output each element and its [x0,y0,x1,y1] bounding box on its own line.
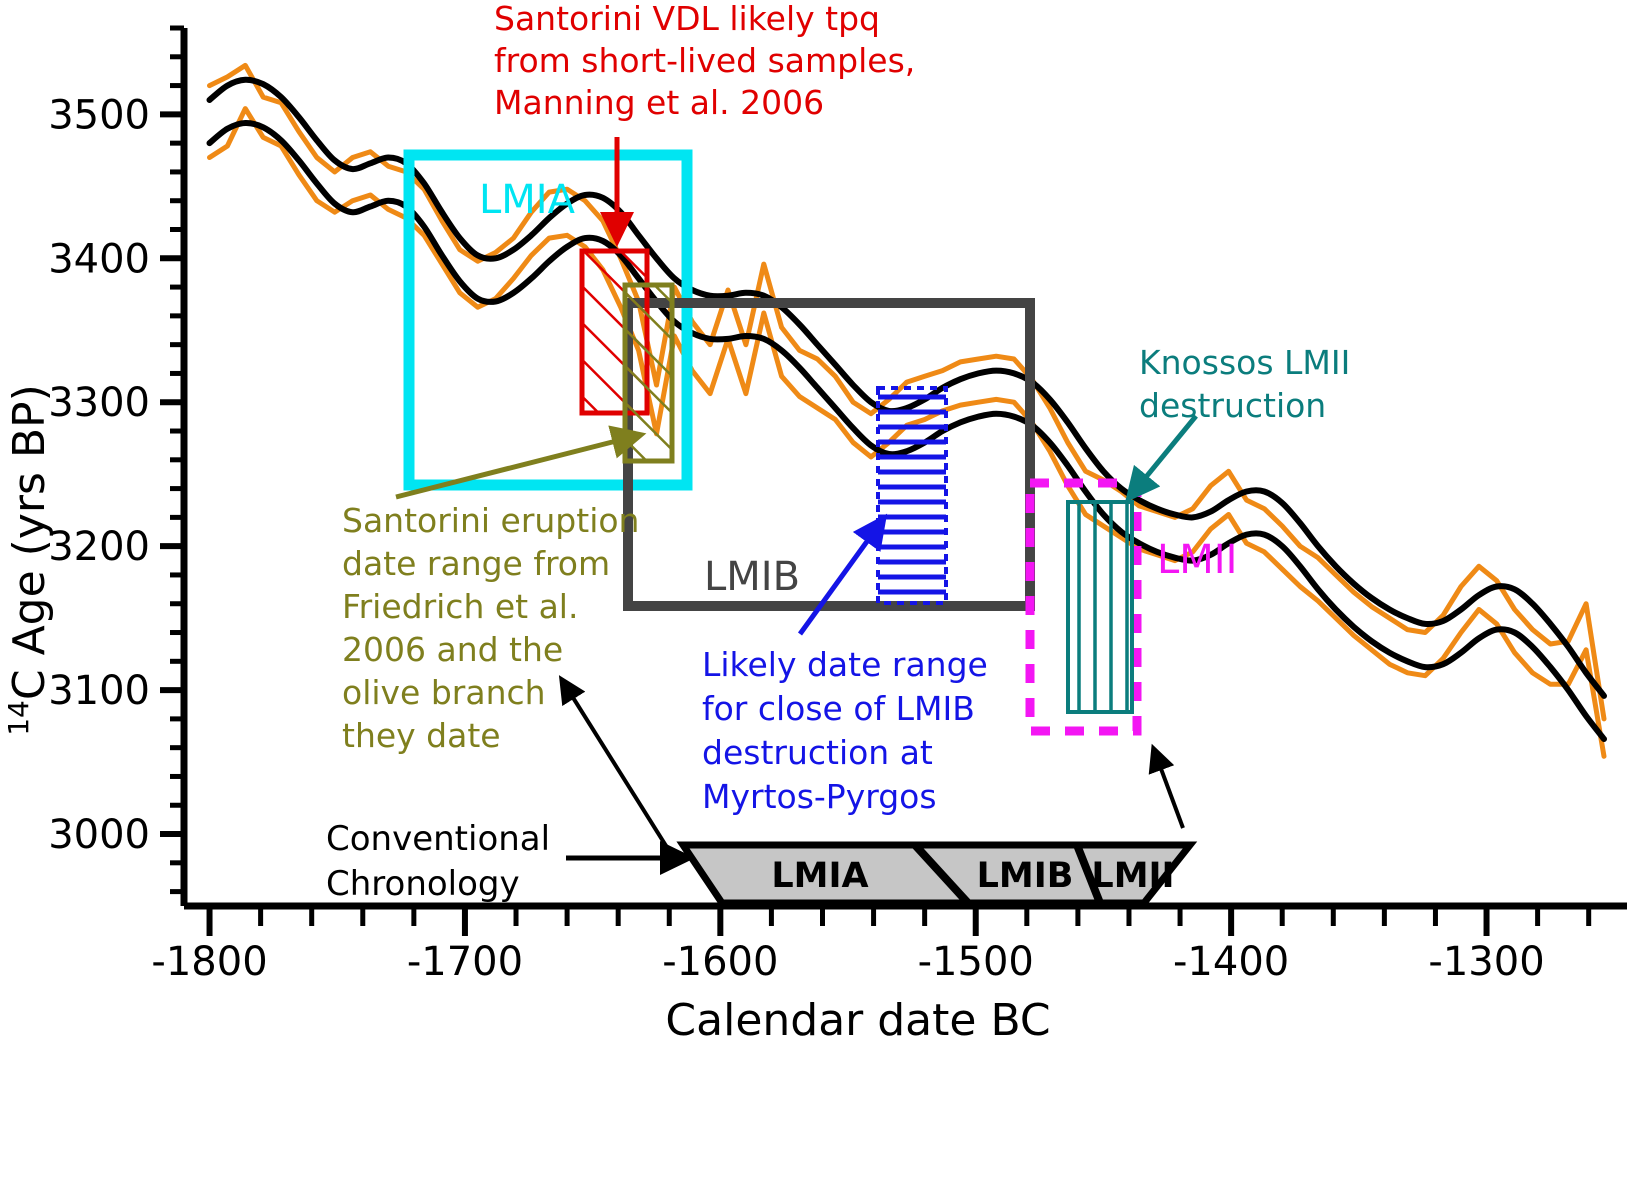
range-box-lmib-close [878,388,946,603]
svg-text:14C Age (yrs BP): 14C Age (yrs BP) [2,384,55,736]
radiocarbon-calibration-chart: 350034003300320031003000 -1800-1700-1600… [0,0,1627,1192]
annotation-line: olive branch [342,673,546,712]
x-tick-label: -1700 [407,939,523,985]
annotation-myrtos: Likely date rangefor close of LMIBdestru… [702,645,988,816]
annotation-line: they date [342,716,501,755]
chron-band-lmib: LMIB [977,856,1074,896]
annotation-arrow-knossos [1137,416,1196,488]
annotation-line: destruction [1139,386,1326,425]
x-tick-label: -1800 [151,939,267,985]
annotation-friedrich: Santorini eruptiondate range fromFriedri… [342,501,639,755]
range-box-santorini-eruption [625,285,672,461]
annotation-line: date range from [342,544,610,583]
annotation-manning: Santorini VDL likely tpqfrom short-lived… [494,0,915,122]
phase-label-lmia: LMIA [479,177,576,223]
annotation-line: Knossos LMII [1139,343,1350,382]
x-tick-labels: -1800-1700-1600-1500-1400-1300 [151,939,1544,985]
annotation-line: Santorini VDL likely tpq [494,0,880,38]
annotation-line: Santorini eruption [342,501,639,540]
pointer-arrow-right [1157,758,1183,828]
annotation-line: Manning et al. 2006 [494,83,824,122]
x-tick-label: -1500 [918,939,1034,985]
conventional-chronology-bar: LMIA LMIB LMII [683,845,1190,903]
x-axis-title: Calendar date BC [665,995,1050,1046]
annotation-conventional-chronology: ConventionalChronology [326,819,550,904]
annotation-line: 2006 and the [342,630,563,669]
y-axis-title: 14C Age (yrs BP) [2,384,55,736]
chron-band-lmia: LMIA [771,856,868,896]
chron-band-lmii: LMII [1091,856,1174,896]
y-tick-label: 3300 [48,380,150,426]
annotation-arrow-myrtos [800,529,876,634]
annotation-knossos: Knossos LMIIdestruction [1139,343,1350,425]
annotation-line: Myrtos-Pyrgos [702,777,937,816]
pointer-arrow-left [567,688,673,857]
range-box-knossos-lmii [1068,502,1132,712]
annotation-line: for close of LMIB [702,689,975,728]
figure-root: 350034003300320031003000 -1800-1700-1600… [0,0,1627,1192]
annotation-line: from short-lived samples, [494,41,915,80]
annotation-line: Likely date range [702,645,988,684]
annotation-line: Friedrich et al. [342,587,578,626]
y-tick-label: 3500 [48,92,150,138]
y-tick-label: 3400 [48,236,150,282]
annotation-line: Conventional [326,819,550,859]
annotation-line: destruction at [702,733,933,772]
y-tick-labels: 350034003300320031003000 [48,92,150,858]
phase-label-lmib: LMIB [704,554,800,600]
phase-label-lmii: LMII [1157,537,1237,583]
y-tick-label: 3100 [48,668,150,714]
annotation-line: Chronology [326,864,520,904]
x-tick-label: -1300 [1428,939,1544,985]
y-tick-label: 3000 [48,812,150,858]
x-tick-label: -1400 [1173,939,1289,985]
x-tick-label: -1600 [662,939,778,985]
y-tick-label: 3200 [48,524,150,570]
